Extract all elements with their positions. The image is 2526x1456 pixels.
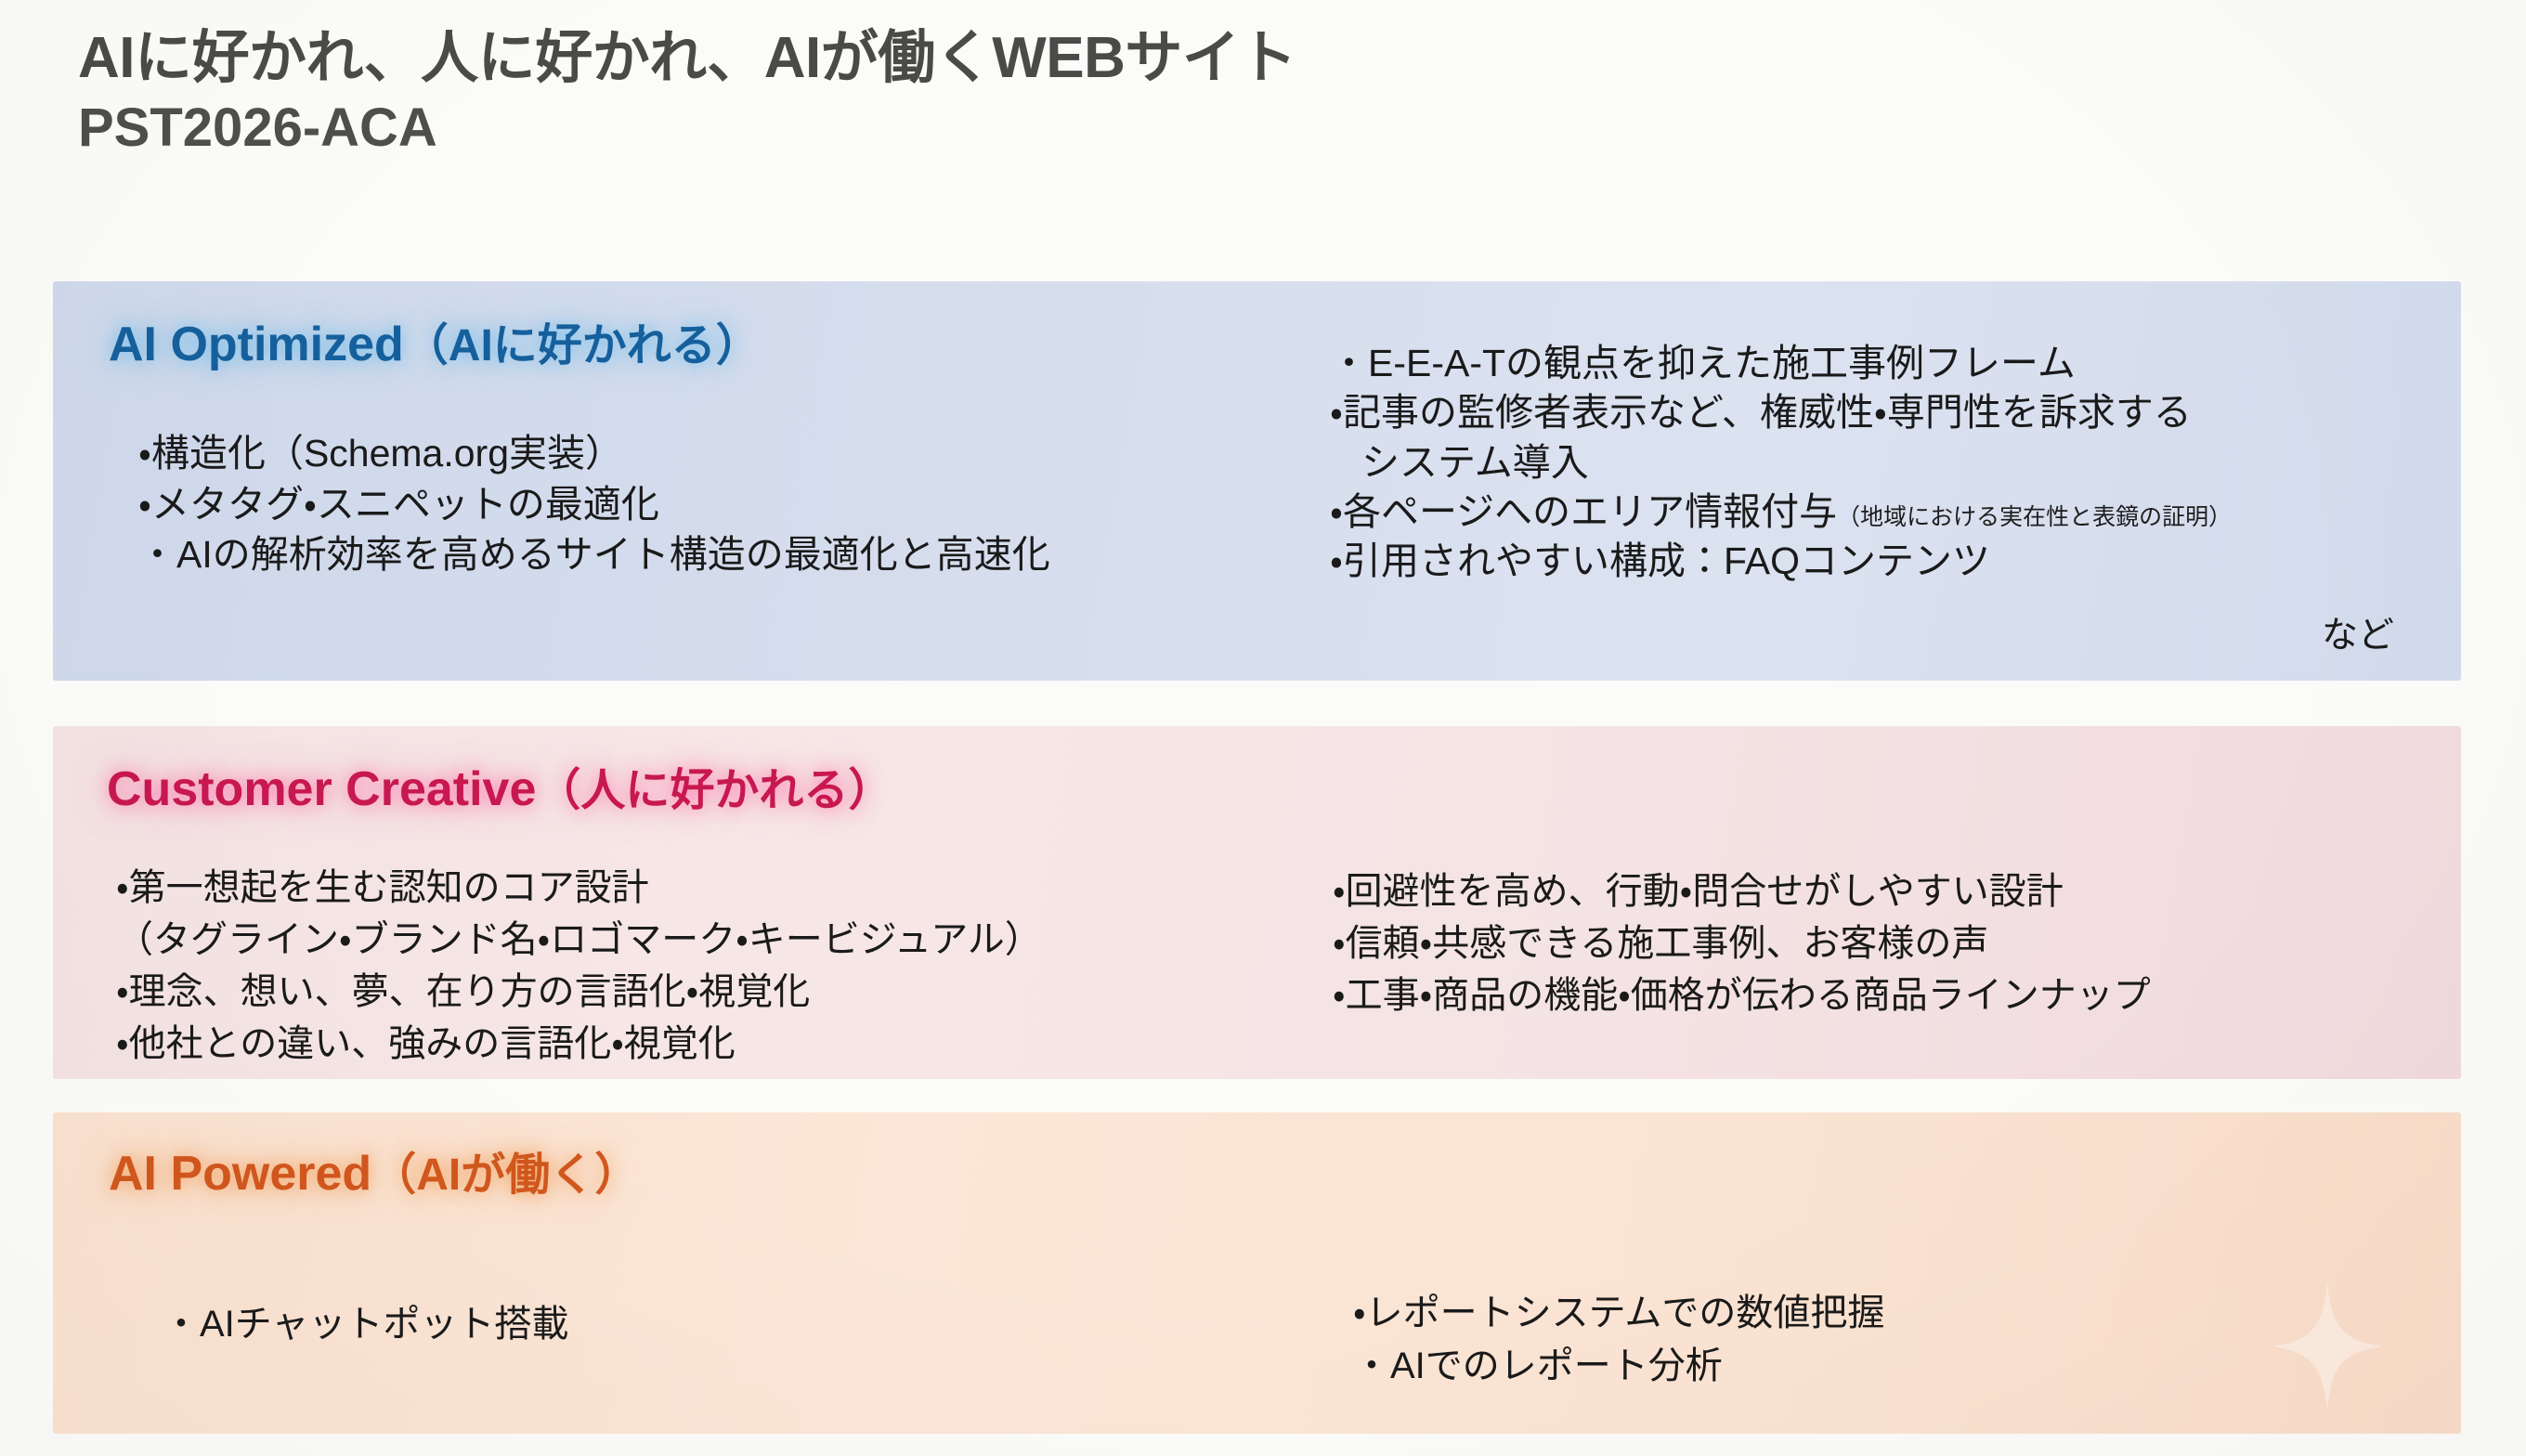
list-item: ・AIの解析効率を高めるサイト構造の最適化と高速化 (138, 529, 1050, 580)
page-title-line-1: AIに好かれ、人に好かれ、AIが働くWEBサイト (78, 24, 2121, 92)
list-item: ・信頼・共感できる施工事例、お客様の声 (1333, 917, 2151, 969)
ai-powered-right-column: ・レポートシステムでの数値把握 ・AIでのレポート分析 (1353, 1287, 1884, 1393)
list-item-text: ・各ページへのエリア情報付与 (1330, 490, 1837, 533)
section-heading-jp: （AIに好かれる） (404, 321, 761, 370)
ai-powered-left-column: ・AIチャットポット搭載 (163, 1298, 568, 1350)
section-customer-creative: Customer Creative（人に好かれる） ・第一想起を生む認知のコア設… (53, 726, 2461, 1079)
section-heading-en: AI Optimized (109, 318, 404, 371)
section-heading-customer-creative: Customer Creative（人に好かれる） (107, 765, 892, 813)
section-ai-powered: AI Powered（AIが働く） ・AIチャットポット搭載 ・レポートシステム… (53, 1112, 2461, 1434)
list-item: ・AIチャットポット搭載 (163, 1298, 568, 1350)
list-item: ・AIでのレポート分析 (1353, 1340, 1884, 1393)
page-title: AIに好かれ、人に好かれ、AIが働くWEBサイト PST2026-ACA (78, 24, 2121, 162)
ai-optimized-right-column: ・E-E-A-Tの観点を抑えた施工事例フレーム ・記事の監修者表示など、権威性・… (1330, 339, 2232, 586)
section-heading-ai-optimized: AI Optimized（AIに好かれる） (109, 320, 761, 369)
section-heading-ai-powered: AI Powered（AIが働く） (109, 1150, 639, 1198)
list-item: ・引用されやすい構成：FAQコンテンツ (1330, 537, 2232, 586)
section-heading-en: Customer Creative (107, 762, 536, 816)
list-item: ・レポートシステムでの数値把握 (1353, 1287, 1884, 1340)
list-item: ・理念、想い、夢、在り方の言語化・視覚化 (116, 966, 1042, 1018)
list-item: ・工事・商品の機能・価格が伝わる商品ラインナップ (1333, 969, 2151, 1021)
section-heading-jp: （AIが働く） (371, 1150, 639, 1200)
list-item-continuation: （タグライン・ブランド名・ロゴマーク・キービジュアル） (116, 914, 1042, 966)
etc-label: など (2322, 606, 2394, 658)
section-heading-jp: （人に好かれる） (536, 766, 892, 815)
list-item: ・記事の監修者表示など、権威性・専門性を訴求する (1330, 388, 2232, 437)
list-item: ・各ページへのエリア情報付与（地域における実在性と表鏡の証明） (1330, 487, 2232, 537)
list-item: ・第一想起を生む認知のコア設計 (116, 862, 1042, 914)
customer-creative-left-column: ・第一想起を生む認知のコア設計 （タグライン・ブランド名・ロゴマーク・キービジュ… (116, 862, 1042, 1070)
list-item: ・回避性を高め、行動・問合せがしやすい設計 (1333, 865, 2151, 917)
list-item: ・メタタグ・スニペットの最適化 (138, 479, 1050, 530)
ai-optimized-left-column: ・構造化（Schema.org実装） ・メタタグ・スニペットの最適化 ・AIの解… (138, 428, 1050, 580)
list-item: ・E-E-A-Tの観点を抑えた施工事例フレーム (1330, 339, 2232, 388)
list-item: ・他社との違い、強みの言語化・視覚化 (116, 1018, 1042, 1070)
list-item-note: （地域における実在性と表鏡の証明） (1837, 504, 2232, 530)
list-item-continuation: システム導入 (1330, 438, 2232, 487)
customer-creative-right-column: ・回避性を高め、行動・問合せがしやすい設計 ・信頼・共感できる施工事例、お客様の… (1333, 865, 2151, 1021)
section-heading-en: AI Powered (109, 1147, 371, 1201)
page-title-line-2: PST2026-ACA (78, 96, 2121, 162)
sparkle-icon (2272, 1281, 2383, 1411)
list-item: ・構造化（Schema.org実装） (138, 428, 1050, 479)
section-ai-optimized: AI Optimized（AIに好かれる） ・構造化（Schema.org実装）… (53, 281, 2461, 681)
